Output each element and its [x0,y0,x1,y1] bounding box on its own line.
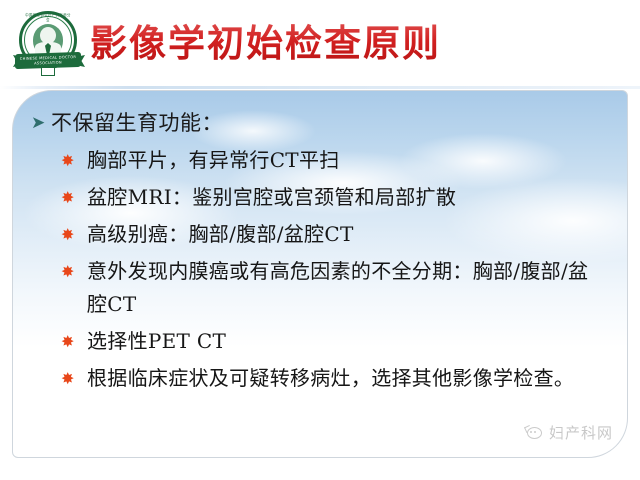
watermark-label: 妇产科网 [549,422,613,443]
crest-banner-text: CHINESE MEDICAL DOCTOR ASSOCIATION [15,55,81,66]
list-item: ✸ 胸部平片，有异常行CT平扫 [31,144,619,177]
list-item: ✸ 高级别癌：胸部/腹部/盆腔CT [31,218,619,251]
page-title: 影像学初始检查原则 [90,19,441,67]
list-item-text: 胸部平片，有异常行CT平扫 [87,144,340,177]
star-bullet-icon: ✸ [61,218,87,251]
header-divider [0,86,640,89]
list-item: ✸ 意外发现内膜癌或有高危因素的不全分期：胸部/腹部/盆腔CT [31,255,619,321]
list-item: ✸ 根据临床症状及可疑转移病灶，选择其他影像学检查。 [31,362,619,395]
site-watermark: 妇产科网 [525,422,613,443]
speech-bubble-dot-right [534,431,536,433]
section-heading-row: ➤ 不保留生育功能： [31,109,619,137]
list-item-text: 高级别癌：胸部/腹部/盆腔CT [87,218,354,251]
slide: 中国医师协会妇产科医师分会 CHINESE MEDICAL DOCTOR ASS… [0,0,640,480]
slide-header: 中国医师协会妇产科医师分会 CHINESE MEDICAL DOCTOR ASS… [0,0,640,90]
list-item-text: 盆腔MRI：鉴别宫腔或宫颈管和局部扩散 [87,181,456,214]
crest-foot-box [41,67,55,76]
list-item-text: 意外发现内膜癌或有高危因素的不全分期：胸部/腹部/盆腔CT [87,255,592,321]
section-heading-label: 不保留生育功能： [51,109,223,137]
list-item-text: 选择性PET CT [87,325,226,358]
arrow-right-icon: ➤ [31,109,51,137]
content-panel: ➤ 不保留生育功能： ✸ 胸部平片，有异常行CT平扫 ✸ 盆腔MRI：鉴别宫腔或… [12,90,628,458]
speech-bubble-body [527,427,542,439]
list-item-text: 根据临床症状及可疑转移病灶，选择其他影像学检查。 [87,362,574,395]
star-bullet-icon: ✸ [61,181,87,214]
star-bullet-icon: ✸ [61,144,87,177]
list-item: ✸ 盆腔MRI：鉴别宫腔或宫颈管和局部扩散 [31,181,619,214]
list-item: ✸ 选择性PET CT [31,325,619,358]
star-bullet-icon: ✸ [61,362,87,395]
speech-bubble-dot-left [530,431,532,433]
bullet-list: ➤ 不保留生育功能： ✸ 胸部平片，有异常行CT平扫 ✸ 盆腔MRI：鉴别宫腔或… [13,91,628,399]
speech-bubble-icon [525,425,544,441]
institution-crest-logo: 中国医师协会妇产科医师分会 CHINESE MEDICAL DOCTOR ASS… [13,9,85,81]
star-bullet-icon: ✸ [61,325,87,358]
star-bullet-icon: ✸ [61,255,87,288]
